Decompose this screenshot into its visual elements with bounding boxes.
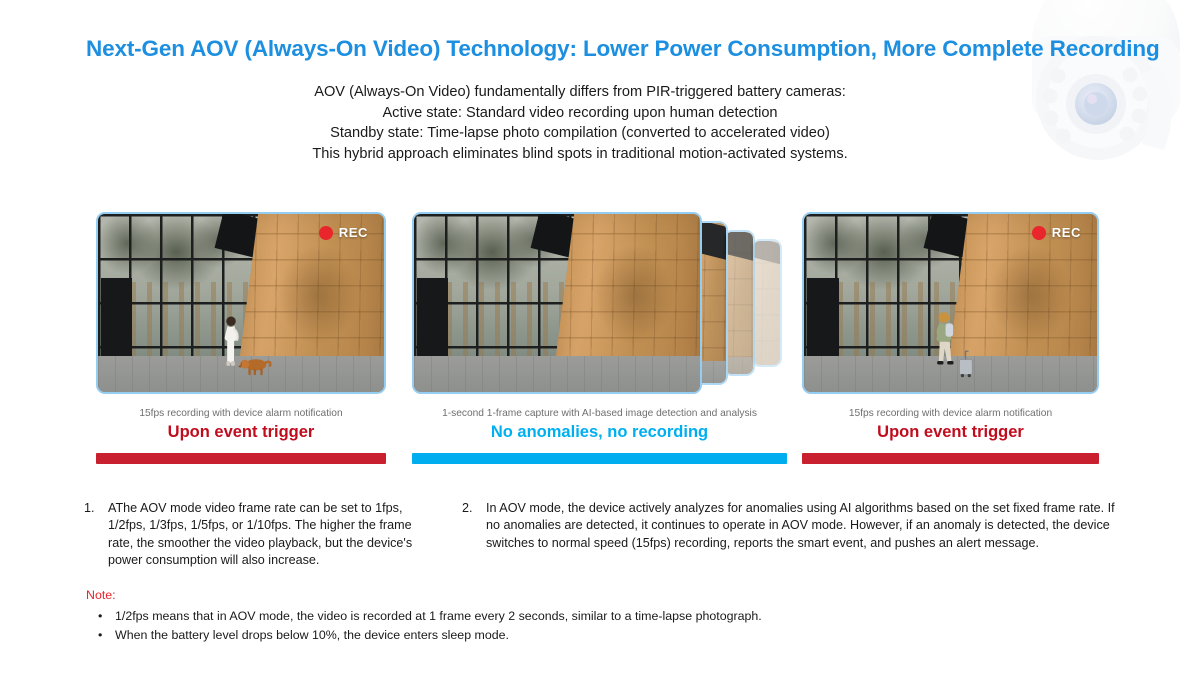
bullet-icon: • xyxy=(98,607,115,627)
note-bullet-text-2: When the battery level drops below 10%, … xyxy=(115,626,509,646)
intro-line-4: This hybrid approach eliminates blind sp… xyxy=(180,144,980,165)
note-text-2: In AOV mode, the device actively analyze… xyxy=(486,500,1122,552)
caption-sub-1: 15fps recording with device alarm notifi… xyxy=(96,408,386,419)
panel-active-recording-left[interactable]: REC 15fps recording with device alarm no… xyxy=(96,212,386,464)
timelapse-ghost-frame-3 xyxy=(751,239,782,367)
intro-line-1: AOV (Always-On Video) fundamentally diff… xyxy=(180,82,980,103)
camera-icon xyxy=(1020,0,1192,182)
rec-dot-icon xyxy=(1032,226,1046,240)
bullet-icon: • xyxy=(98,626,115,646)
rec-label: REC xyxy=(1052,225,1081,240)
note-number-2: 2. xyxy=(462,500,486,552)
frame-stack-3: REC xyxy=(802,212,1099,394)
caption-sub-2: 1-second 1-frame capture with AI-based i… xyxy=(412,408,787,419)
panel-row: REC 15fps recording with device alarm no… xyxy=(0,212,1200,474)
note-heading: Note: xyxy=(86,586,1086,606)
dog-icon xyxy=(238,353,272,380)
panel-standby-timelapse[interactable]: 1-second 1-frame capture with AI-based i… xyxy=(412,212,787,464)
frame-stack-2 xyxy=(412,212,787,394)
note-bullet-item: • 1/2fps means that in AOV mode, the vid… xyxy=(98,607,1086,627)
note-bullet-item: • When the battery level drops below 10%… xyxy=(98,626,1086,646)
page-title: Next-Gen AOV (Always-On Video) Technolog… xyxy=(86,36,1126,62)
numbered-note-2: 2. In AOV mode, the device actively anal… xyxy=(462,500,1122,552)
rec-indicator-3: REC xyxy=(1032,225,1081,240)
rec-indicator-1: REC xyxy=(319,225,368,240)
frame-stack-1: REC xyxy=(96,212,386,394)
video-frame-1[interactable]: REC xyxy=(96,212,386,394)
video-frame-3[interactable]: REC xyxy=(802,212,1099,394)
rec-label: REC xyxy=(339,225,368,240)
numbered-note-1: 1. AThe AOV mode video frame rate can be… xyxy=(84,500,424,570)
ghost-scene-2 xyxy=(725,232,753,374)
accent-bar-2 xyxy=(412,453,787,464)
caption-main-3: Upon event trigger xyxy=(802,423,1099,442)
panel-active-recording-right[interactable]: REC 15fps recording with device alarm no… xyxy=(802,212,1099,464)
scene-traveler-with-suitcase xyxy=(804,214,1097,392)
caption-sub-3: 15fps recording with device alarm notifi… xyxy=(802,408,1099,419)
ptz-dome-camera-watermark xyxy=(1020,0,1192,182)
intro-paragraph: AOV (Always-On Video) fundamentally diff… xyxy=(180,82,980,164)
note-bullet-text-1: 1/2fps means that in AOV mode, the video… xyxy=(115,607,762,627)
ghost-scene-3 xyxy=(753,241,780,365)
note-text-1: AThe AOV mode video frame rate can be se… xyxy=(108,500,424,570)
intro-line-3: Standby state: Time-lapse photo compilat… xyxy=(180,123,980,144)
suitcase-icon xyxy=(956,349,977,377)
video-frame-2[interactable] xyxy=(412,212,702,394)
note-number-1: 1. xyxy=(84,500,108,570)
person-traveler-icon xyxy=(933,307,956,378)
accent-bar-3 xyxy=(802,453,1099,464)
caption-main-2: No anomalies, no recording xyxy=(412,423,787,442)
scene-empty-courtyard xyxy=(414,214,700,392)
note-block: Note: • 1/2fps means that in AOV mode, t… xyxy=(86,586,1086,646)
intro-line-2: Active state: Standard video recording u… xyxy=(180,103,980,124)
scene-woman-with-dog xyxy=(98,214,384,392)
rec-dot-icon xyxy=(319,226,333,240)
accent-bar-1 xyxy=(96,453,386,464)
caption-main-1: Upon event trigger xyxy=(96,423,386,442)
